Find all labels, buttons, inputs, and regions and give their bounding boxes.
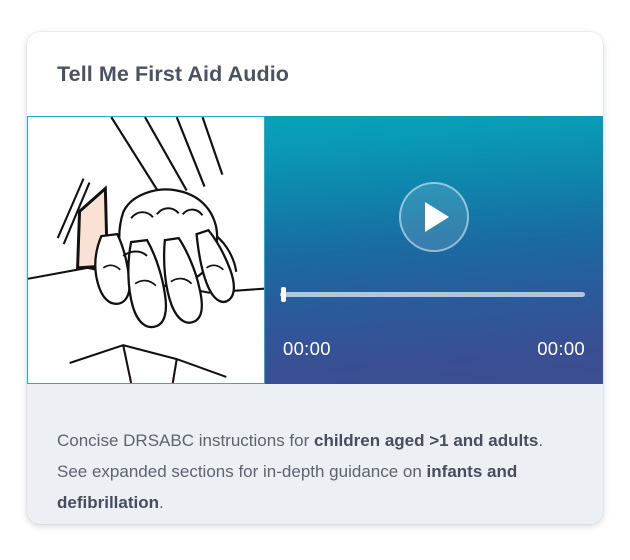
current-time-label: 00:00: [283, 338, 331, 360]
audio-player-panel: 00:00 00:00: [265, 116, 603, 384]
progress-track: [280, 292, 585, 297]
time-row: 00:00 00:00: [283, 338, 585, 360]
audio-progress-slider[interactable]: [280, 287, 585, 301]
description-bold-1: children aged >1 and adults: [314, 431, 538, 450]
media-row: 00:00 00:00: [27, 116, 603, 384]
play-button[interactable]: [399, 182, 469, 252]
cpr-chest-compression-illustration: [27, 116, 265, 384]
total-time-label: 00:00: [537, 338, 585, 360]
audio-player-card: Tell Me First Aid Audio: [27, 32, 603, 524]
play-icon: [425, 202, 449, 232]
page-title: Tell Me First Aid Audio: [57, 62, 289, 87]
description-part-1: Concise DRSABC instructions for: [57, 431, 314, 450]
progress-thumb[interactable]: [281, 287, 286, 302]
card-header: Tell Me First Aid Audio: [27, 32, 603, 116]
card-footer: Concise DRSABC instructions for children…: [27, 384, 603, 524]
description-text: Concise DRSABC instructions for children…: [57, 425, 573, 518]
page-root: Tell Me First Aid Audio: [0, 0, 630, 560]
cpr-illustration-graphic: [28, 117, 264, 383]
description-part-3: .: [159, 493, 164, 512]
